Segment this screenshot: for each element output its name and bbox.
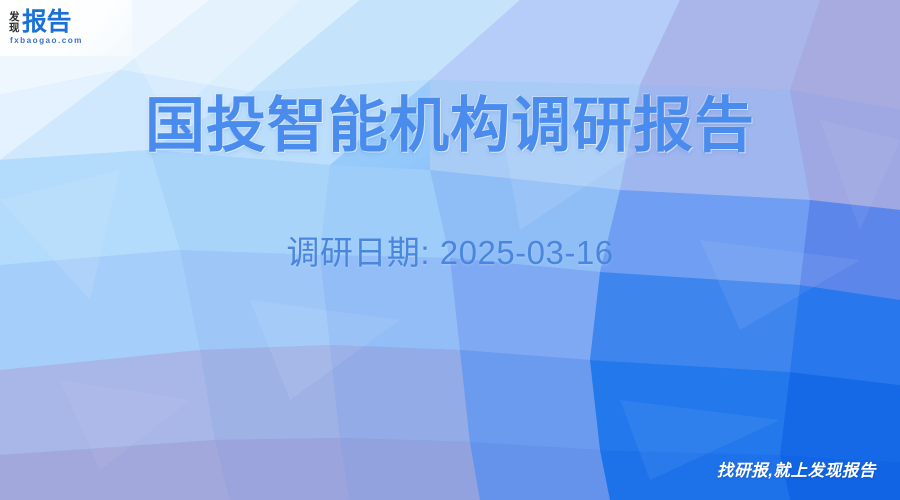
logo-wordmark: 报告	[22, 10, 71, 35]
logo-char-xian: 现	[9, 23, 19, 34]
report-cover-page: 发 现 报告 fxbaogao.com 国投智能机构调研报告 调研日期: 202…	[0, 0, 900, 500]
logo-wordmark-row: 发 现 报告	[9, 9, 71, 35]
page-title: 国投智能机构调研报告	[0, 92, 900, 160]
fxbaogao-logo[interactable]: 发 现 报告 fxbaogao.com	[9, 9, 83, 46]
brand-tagline: 找研报,就上发现报告	[717, 461, 876, 481]
logo-stacked-characters: 发 现	[9, 12, 19, 35]
survey-date-subtitle: 调研日期: 2025-03-16	[0, 233, 900, 273]
logo-website-url: fxbaogao.com	[10, 36, 83, 46]
